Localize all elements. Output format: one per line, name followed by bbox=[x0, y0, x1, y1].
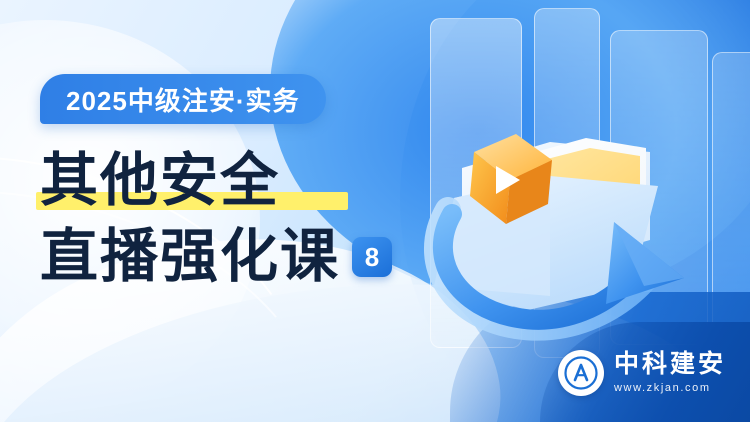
title-block: 其他安全 直播强化课 8 bbox=[40, 148, 460, 300]
brand-website: www.zkjan.com bbox=[614, 383, 726, 394]
brand-name: 中科建安 bbox=[614, 352, 726, 377]
logo-texts: 中科建安 www.zkjan.com bbox=[614, 352, 726, 394]
course-title-line1: 其他安全 bbox=[40, 150, 280, 212]
title-row-2: 直播强化课 8 bbox=[40, 224, 460, 290]
brand-logo: 中科建安 www.zkjan.com bbox=[558, 350, 726, 396]
course-title-line2: 直播强化课 bbox=[40, 226, 340, 288]
course-tag: 2025中级注安·实务 bbox=[40, 74, 326, 124]
episode-badge: 8 bbox=[352, 237, 392, 277]
compass-logo-icon bbox=[558, 350, 604, 396]
course-banner: 2025中级注安·实务 其他安全 直播强化课 8 中科建安 www.zkjan.… bbox=[0, 0, 750, 422]
title-row-1: 其他安全 bbox=[40, 148, 460, 214]
